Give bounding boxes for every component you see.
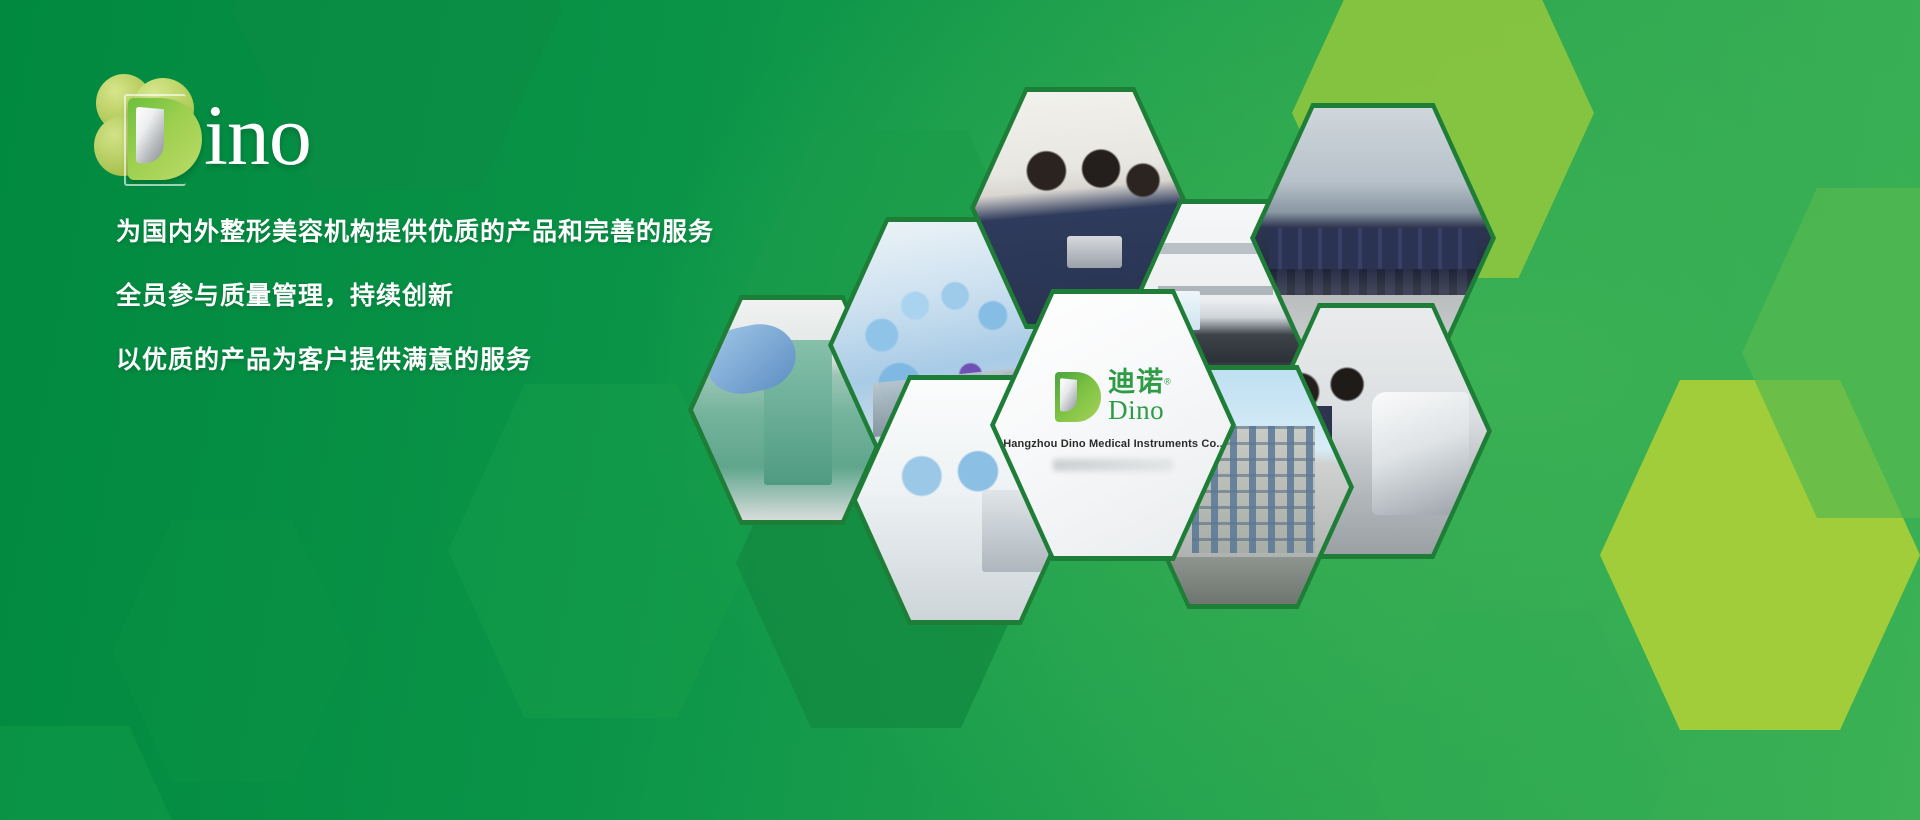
blurred-secondary-text (1053, 459, 1173, 471)
brand-block: ino (92, 72, 652, 172)
tagline-3: 以优质的产品为客户提供满意的服务 (116, 340, 714, 376)
logo-frame-icon (124, 94, 186, 186)
logo-d-leaf-icon (128, 98, 202, 180)
registered-trademark-icon: ® (1164, 377, 1171, 387)
photo-hexagon-cluster: 迪诺® Dino Hangzhou Dino Medical Instrumen… (660, 95, 1920, 735)
bg-hexagon-soft-lowleft2 (112, 520, 352, 782)
center-logo-en: Dino (1108, 397, 1171, 424)
center-logo-lockup: 迪诺® Dino (1055, 369, 1171, 424)
wordmark-ino: ino (204, 92, 311, 178)
dino-logo: ino (92, 72, 340, 172)
tagline-1: 为国内外整形美容机构提供优质的产品和完善的服务 (116, 212, 714, 248)
tagline-list: 为国内外整形美容机构提供优质的产品和完善的服务 全员参与质量管理，持续创新 以优… (116, 212, 714, 404)
company-name: Hangzhou Dino Medical Instruments Co.. (1003, 438, 1223, 450)
center-logo-cn: 迪诺® (1108, 369, 1171, 396)
tagline-2: 全员参与质量管理，持续创新 (116, 276, 714, 312)
hero-banner: ino 为国内外整形美容机构提供优质的产品和完善的服务 全员参与质量管理，持续创… (0, 0, 1920, 820)
dino-leaf-icon (1055, 372, 1101, 422)
